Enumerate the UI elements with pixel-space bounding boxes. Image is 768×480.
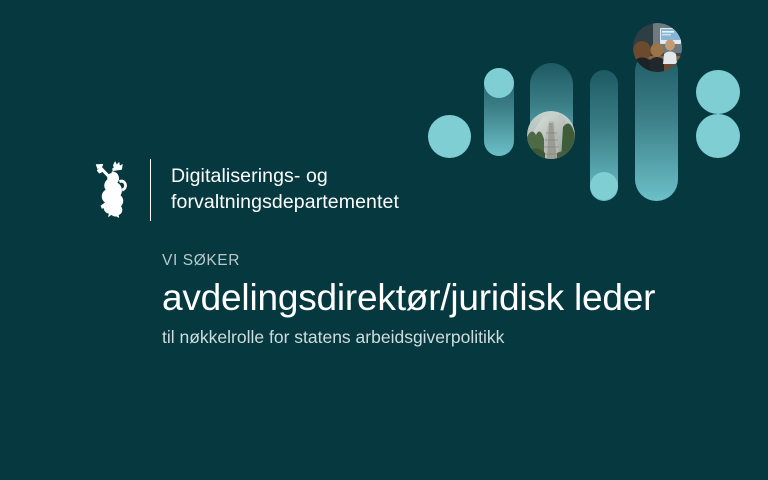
department-name: Digitaliserings- og forvaltningsdepartem… (171, 164, 399, 215)
job-posting-copy: VI SØKER avdelingsdirektør/juridisk lede… (162, 252, 722, 349)
department-name-line2: forvaltningsdepartementet (171, 190, 399, 216)
circle-light-2 (484, 68, 514, 98)
department-name-line1: Digitaliserings- og (171, 164, 399, 190)
circle-light-5 (696, 114, 740, 158)
eyebrow-label: VI SØKER (162, 252, 722, 270)
logo-divider (150, 159, 151, 221)
job-subtitle: til nøkkelrolle for statens arbeidsgiver… (162, 327, 722, 349)
circle-light-3 (590, 172, 618, 200)
decorative-pill-pattern (420, 0, 768, 220)
job-title-heading: avdelingsdirektør/juridisk leder (162, 278, 722, 318)
department-logo: Digitaliserings- og forvaltningsdepartem… (86, 158, 399, 222)
norwegian-coat-of-arms-icon (86, 158, 132, 222)
recruitment-slide: Digitaliserings- og forvaltningsdepartem… (0, 0, 768, 480)
circle-light-4 (696, 70, 740, 114)
pill-bar-5 (635, 50, 678, 201)
circle-light-1 (428, 115, 471, 158)
photo-meeting-room (633, 23, 682, 72)
photo-building-roof (527, 111, 575, 159)
